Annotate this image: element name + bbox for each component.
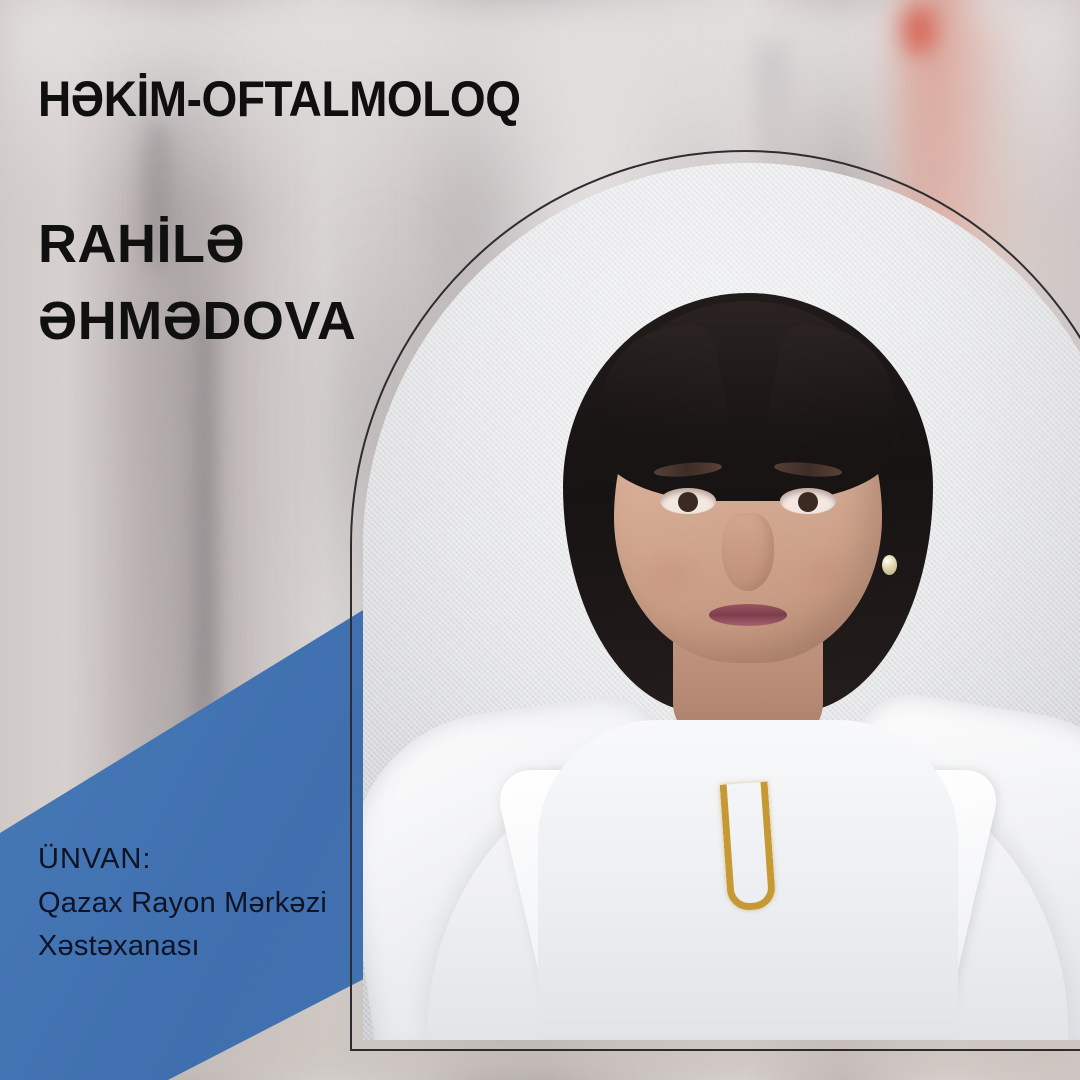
doctor-first-name: RAHİLƏ [38,206,356,283]
address-block: ÜNVAN: Qazax Rayon Mərkəzi Xəstəxanası [38,838,327,969]
background-red-marker-dot [902,5,937,55]
address-line-1: Qazax Rayon Mərkəzi [38,882,327,926]
doctor-last-name: ƏHMƏDOVA [38,283,356,360]
role-title: HƏKİM-OFTALMOLOQ [38,74,521,124]
doctor-name: RAHİLƏ ƏHMƏDOVA [38,206,356,359]
doctor-profile-card: HƏKİM-OFTALMOLOQ RAHİLƏ ƏHMƏDOVA ÜNVAN: … [0,0,1080,1080]
address-label: ÜNVAN: [38,838,327,882]
address-line-2: Xəstəxanası [38,925,327,969]
arch-frame-outline [350,150,1080,1051]
